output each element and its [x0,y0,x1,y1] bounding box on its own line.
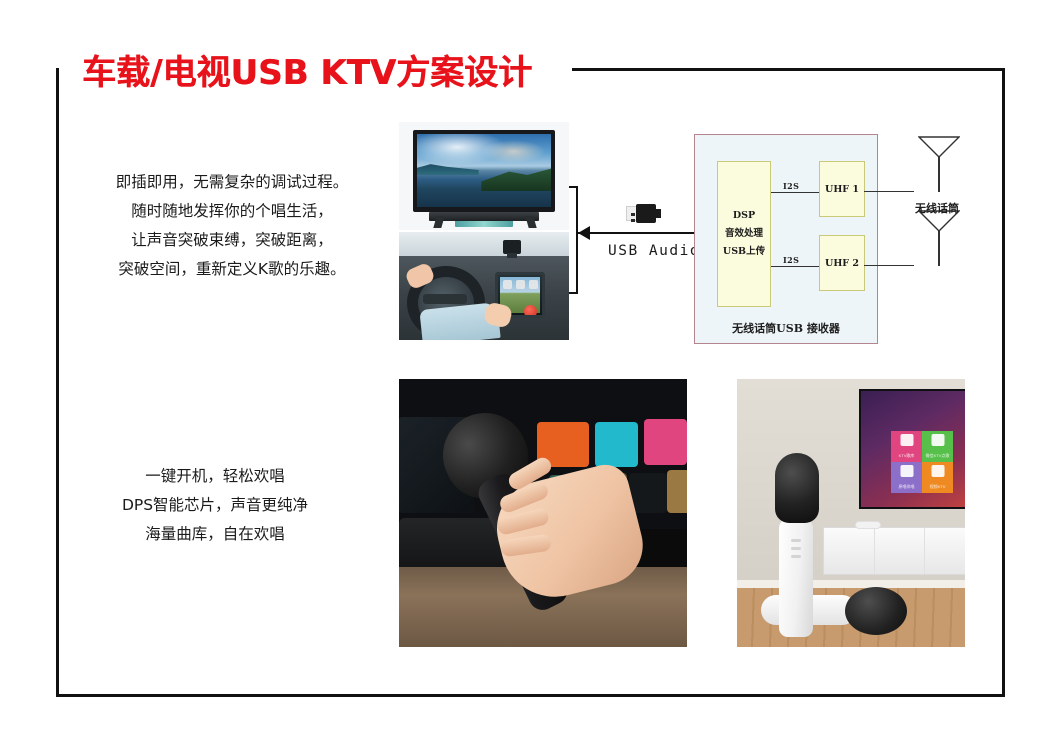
microphone-2-foam-head [845,587,907,635]
usb-plug-detail-2 [631,219,635,222]
uhf2-label: UHF 2 [825,258,859,269]
wireless-mic-label: 无线话筒 [915,200,959,216]
i2s-wire-1 [771,192,819,193]
usb-connector-icon [626,203,660,225]
tv-remote [855,521,881,529]
microphone-in-car-photo [399,379,687,647]
page-title: 车载/电视USB KTV方案设计 [82,45,532,94]
frame-border-right [1002,68,1005,697]
feature-line-1: 一键开机，轻松欢唱 [80,462,350,491]
tv-tile-wechat-select: 微信KTV点歌 [922,431,953,462]
usb-plug-detail-1 [631,213,635,216]
intro-line-1: 即插即用，无需复杂的调试过程。 [72,168,392,197]
tv-tile-label-3: 原唱伴唱 [891,484,922,490]
tv-tile-original-accompaniment: 原唱伴唱 [891,462,922,493]
dsp-block: DSP 音效处理 USB上传 [717,161,771,307]
television-photo [399,122,569,230]
tv-tile-video-ktv: 视频KTV [922,462,953,493]
car-screen-record-button [524,305,537,318]
diagram-caption: 无线话筒USB 接收器 [695,320,877,336]
frame-border-left [56,68,59,697]
usb-audio-label: USB Audio [608,243,700,259]
microphone-1-button-2 [791,547,801,550]
i2s-wire-2 [771,266,819,267]
uhf2-block: UHF 2 [819,235,865,291]
car-windshield [399,232,569,256]
paper-plane-icon [900,465,913,477]
connector-horizontal [577,232,695,234]
i2s-label-2: I2S [783,255,799,265]
tv-landscape-right [481,166,551,191]
uhf1-block: UHF 1 [819,161,865,217]
antenna-wire-1-v [938,157,940,192]
car-screen-icon-3 [529,280,538,289]
car-display-tile-6 [629,473,666,513]
antenna-wire-2-v [938,231,940,266]
microphone-1-foam-head [775,453,819,523]
tv-app-tiles: KTV歌库 微信KTV点歌 原唱伴唱 视频KTV [891,431,953,493]
dsp-label-2: 音效处理 [725,225,763,243]
microphone-1-button-1 [791,539,801,542]
microphone-1-body [779,519,813,637]
eye-icon [931,465,944,477]
music-folder-icon [900,434,913,446]
usb-plug-shell [636,204,656,223]
feature-line-3: 海量曲库，自在欢唱 [80,520,350,549]
slide-canvas: 车载/电视USB KTV方案设计 即插即用，无需复杂的调试过程。 随时随地发挥你… [0,0,1061,749]
car-dashcam-mount [507,253,517,258]
dsp-label-3: USB上传 [723,243,765,261]
tv-tile-ktv-library: KTV歌库 [891,431,922,462]
connector-vertical [576,186,578,294]
tv-foot-left [433,216,444,228]
arrow-left-icon [578,226,590,240]
receiver-block-diagram: DSP 音效处理 USB上传 UHF 1 UHF 2 I2S I2S 无线话筒U… [694,134,878,344]
intro-line-3: 让声音突破束缚，突破距离， [72,226,392,255]
cabinet-divider-1 [874,528,875,574]
uhf1-label: UHF 1 [825,184,859,195]
tv-cabinet [823,527,965,575]
antenna-wire-2-h [864,265,914,266]
steering-wheel-spoke [423,294,467,304]
tv-stand-bar [429,212,539,221]
car-screen-icon-1 [503,280,512,289]
wall-mounted-tv: KTV歌库 微信KTV点歌 原唱伴唱 视频KTV [859,389,965,509]
car-display-tile-7 [667,470,687,513]
antenna-wire-1-h [864,191,914,192]
i2s-label-1: I2S [783,181,799,191]
car-screen-icon-2 [516,280,525,289]
frame-border-bottom [56,694,1005,697]
car-display-tile-2 [595,422,638,468]
tv-landscape-left [417,163,479,175]
tv-tile-label-4: 视频KTV [922,484,953,490]
features-paragraph: 一键开机，轻松欢唱 DPS智能芯片，声音更纯净 海量曲库，自在欢唱 [80,462,350,549]
intro-line-2: 随时随地发挥你的个唱生活， [72,197,392,226]
living-room-microphones-photo: KTV歌库 微信KTV点歌 原唱伴唱 视频KTV [737,379,965,647]
tv-screen [417,134,551,207]
intro-line-4: 突破空间，重新定义K歌的乐趣。 [72,255,392,284]
tv-bezel [413,130,555,212]
intro-paragraph: 即插即用，无需复杂的调试过程。 随时随地发挥你的个唱生活， 让声音突破束缚，突破… [72,168,392,284]
chat-icon [931,434,944,446]
car-dashcam [503,240,521,254]
dsp-label-1: DSP [733,207,755,225]
tv-tile-label-1: KTV歌库 [891,453,922,459]
room-skirting-board [737,580,965,588]
tv-tile-label-2: 微信KTV点歌 [922,453,953,459]
microphone-1-button-3 [791,555,801,558]
usb-cable-stub [654,209,661,218]
feature-line-2: DPS智能芯片，声音更纯净 [80,491,350,520]
cabinet-divider-2 [924,528,925,574]
frame-border-top [572,68,1005,71]
car-interior-photo [399,232,569,340]
antenna-icon-1 [918,136,960,156]
car-display-tile-3 [644,419,687,465]
